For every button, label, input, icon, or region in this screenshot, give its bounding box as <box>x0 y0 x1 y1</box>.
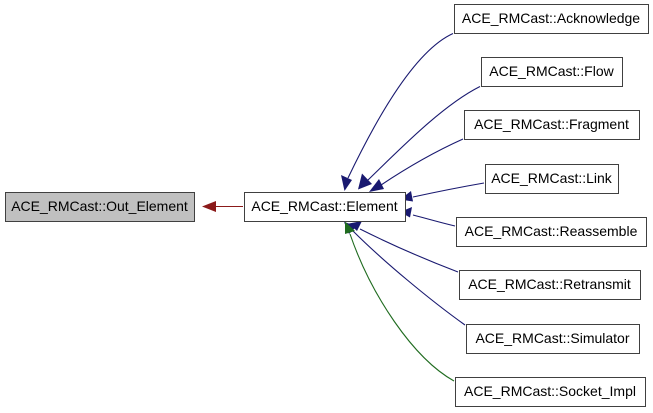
node-flow[interactable]: ACE_RMCast::Flow <box>482 58 623 87</box>
inheritance-graph-canvas: ACE_RMCast::Out_ElementACE_RMCast::Eleme… <box>0 0 653 413</box>
node-label: ACE_RMCast::Simulator <box>475 330 629 346</box>
node-label: ACE_RMCast::Flow <box>489 63 614 79</box>
node-label: ACE_RMCast::Reassemble <box>465 223 638 239</box>
node-socket-impl[interactable]: ACE_RMCast::Socket_Impl <box>456 378 646 407</box>
node-label: ACE_RMCast::Fragment <box>474 116 629 132</box>
node-label: ACE_RMCast::Socket_Impl <box>464 383 636 399</box>
node-label: ACE_RMCast::Element <box>251 198 397 214</box>
node-simulator[interactable]: ACE_RMCast::Simulator <box>467 325 640 354</box>
inheritance-diagram: ACE_RMCast::Out_ElementACE_RMCast::Eleme… <box>0 0 653 413</box>
node-acknowledge[interactable]: ACE_RMCast::Acknowledge <box>455 5 649 34</box>
node-link[interactable]: ACE_RMCast::Link <box>486 165 619 194</box>
node-label: ACE_RMCast::Link <box>491 170 613 186</box>
node-out-element[interactable]: ACE_RMCast::Out_Element <box>6 193 195 222</box>
node-retransmit[interactable]: ACE_RMCast::Retransmit <box>460 271 641 300</box>
node-element[interactable]: ACE_RMCast::Element <box>245 193 406 222</box>
node-label: ACE_RMCast::Out_Element <box>11 198 188 214</box>
node-label: ACE_RMCast::Retransmit <box>468 276 631 292</box>
node-label: ACE_RMCast::Acknowledge <box>462 10 640 26</box>
node-fragment[interactable]: ACE_RMCast::Fragment <box>465 111 640 140</box>
node-reassemble[interactable]: ACE_RMCast::Reassemble <box>457 218 647 247</box>
